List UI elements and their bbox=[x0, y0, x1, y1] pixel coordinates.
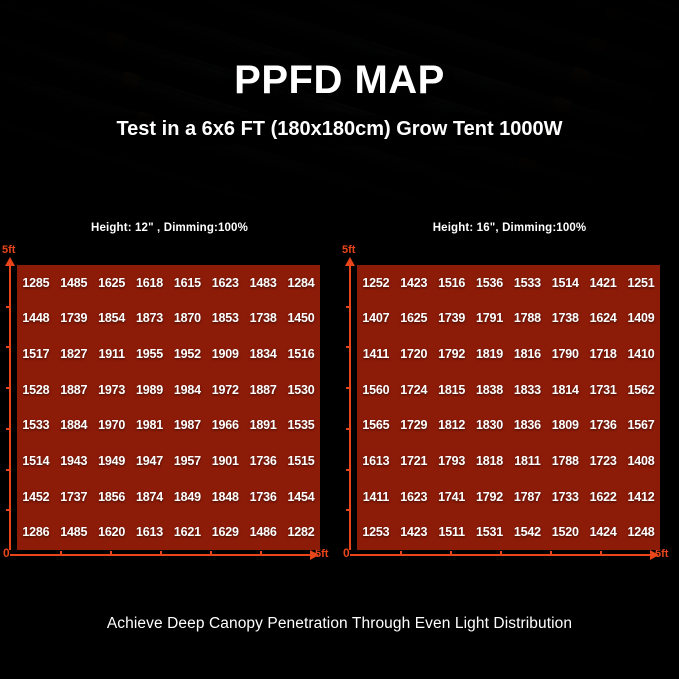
y-axis-arrow-icon bbox=[345, 257, 355, 266]
ppfd-cell: 1623 bbox=[206, 265, 244, 301]
condition-label-12in: Height: 12" , Dimming:100% bbox=[0, 222, 339, 234]
ppfd-cell: 1411 bbox=[357, 479, 395, 515]
ppfd-cell: 1284 bbox=[282, 265, 320, 301]
x-axis-tick bbox=[400, 551, 402, 556]
ppfd-cell: 1515 bbox=[282, 443, 320, 479]
ppfd-cell: 1562 bbox=[622, 372, 660, 408]
ppfd-cell: 1622 bbox=[584, 479, 622, 515]
x-axis-tick bbox=[60, 551, 62, 556]
ppfd-cell: 1738 bbox=[244, 301, 282, 337]
ppfd-cell: 1424 bbox=[584, 514, 622, 550]
ppfd-cell: 1811 bbox=[509, 443, 547, 479]
ppfd-cell: 1736 bbox=[244, 479, 282, 515]
ppfd-cell: 1973 bbox=[93, 372, 131, 408]
ppfd-cell: 1815 bbox=[433, 372, 471, 408]
ppfd-cell: 1830 bbox=[471, 408, 509, 444]
ppfd-cell: 1724 bbox=[395, 372, 433, 408]
heatmap-grid-12in: 1285148516251618161516231483128414481739… bbox=[17, 265, 320, 550]
ppfd-cell: 1528 bbox=[17, 372, 55, 408]
ppfd-cell: 1816 bbox=[509, 336, 547, 372]
ppfd-map-panel-12in: Height: 12" , Dimming:100% 5ft 0 5ft 128… bbox=[0, 222, 339, 582]
ppfd-cell: 1536 bbox=[471, 265, 509, 301]
y-axis-tick bbox=[6, 428, 11, 430]
ppfd-cell: 1625 bbox=[93, 265, 131, 301]
y-axis-tick bbox=[346, 387, 351, 389]
ppfd-cell: 1410 bbox=[622, 336, 660, 372]
ppfd-cell: 1409 bbox=[622, 301, 660, 337]
ppfd-cell: 1955 bbox=[131, 336, 169, 372]
x-axis-right bbox=[350, 554, 650, 556]
ppfd-cell: 1856 bbox=[93, 479, 131, 515]
ppfd-cell: 1251 bbox=[622, 265, 660, 301]
ppfd-cell: 1531 bbox=[471, 514, 509, 550]
ppfd-cell: 1723 bbox=[584, 443, 622, 479]
ppfd-cell: 1834 bbox=[244, 336, 282, 372]
ppfd-cell: 1909 bbox=[206, 336, 244, 372]
y-axis-right bbox=[349, 265, 351, 550]
ppfd-cell: 1809 bbox=[546, 408, 584, 444]
ppfd-cell: 1285 bbox=[17, 265, 55, 301]
x-axis-tick bbox=[550, 551, 552, 556]
ppfd-cell: 1874 bbox=[131, 479, 169, 515]
ppfd-cell: 1423 bbox=[395, 265, 433, 301]
ppfd-cell: 1901 bbox=[206, 443, 244, 479]
ppfd-cell: 1511 bbox=[433, 514, 471, 550]
x-axis-left bbox=[10, 554, 310, 556]
ppfd-cell: 1560 bbox=[357, 372, 395, 408]
ppfd-maps-container: Height: 12" , Dimming:100% 5ft 0 5ft 128… bbox=[0, 222, 679, 582]
x-axis-tick bbox=[160, 551, 162, 556]
ppfd-cell: 1485 bbox=[55, 514, 93, 550]
y-axis-tick bbox=[6, 387, 11, 389]
y-axis-tick bbox=[6, 346, 11, 348]
ppfd-cell: 1952 bbox=[169, 336, 207, 372]
y-axis-tick bbox=[346, 469, 351, 471]
ppfd-cell: 1718 bbox=[584, 336, 622, 372]
ppfd-cell: 1629 bbox=[206, 514, 244, 550]
ppfd-cell: 1788 bbox=[546, 443, 584, 479]
ppfd-cell: 1887 bbox=[244, 372, 282, 408]
page-subtitle: Test in a 6x6 FT (180x180cm) Grow Tent 1… bbox=[0, 119, 679, 139]
ppfd-cell: 1848 bbox=[206, 479, 244, 515]
ppfd-cell: 1854 bbox=[93, 301, 131, 337]
ppfd-cell: 1838 bbox=[471, 372, 509, 408]
y-axis-tick bbox=[346, 306, 351, 308]
ppfd-cell: 1836 bbox=[509, 408, 547, 444]
ppfd-cell: 1282 bbox=[282, 514, 320, 550]
y-axis-tick bbox=[6, 306, 11, 308]
ppfd-cell: 1613 bbox=[357, 443, 395, 479]
ppfd-cell: 1618 bbox=[131, 265, 169, 301]
x-axis-tick bbox=[260, 551, 262, 556]
ppfd-cell: 1911 bbox=[93, 336, 131, 372]
ppfd-cell: 1812 bbox=[433, 408, 471, 444]
ppfd-cell: 1421 bbox=[584, 265, 622, 301]
ppfd-cell: 1739 bbox=[55, 301, 93, 337]
ppfd-cell: 1408 bbox=[622, 443, 660, 479]
ppfd-cell: 1252 bbox=[357, 265, 395, 301]
ppfd-cell: 1887 bbox=[55, 372, 93, 408]
ppfd-cell: 1984 bbox=[169, 372, 207, 408]
ppfd-cell: 1565 bbox=[357, 408, 395, 444]
ppfd-cell: 1615 bbox=[169, 265, 207, 301]
y-axis-label-left: 5ft bbox=[2, 244, 15, 256]
ppfd-cell: 1790 bbox=[546, 336, 584, 372]
ppfd-cell: 1741 bbox=[433, 479, 471, 515]
ppfd-cell: 1947 bbox=[131, 443, 169, 479]
ppfd-cell: 1729 bbox=[395, 408, 433, 444]
ppfd-cell: 1827 bbox=[55, 336, 93, 372]
ppfd-cell: 1542 bbox=[509, 514, 547, 550]
ppfd-cell: 1791 bbox=[471, 301, 509, 337]
ppfd-cell: 1516 bbox=[433, 265, 471, 301]
ppfd-cell: 1454 bbox=[282, 479, 320, 515]
ppfd-cell: 1621 bbox=[169, 514, 207, 550]
ppfd-cell: 1530 bbox=[282, 372, 320, 408]
x-axis-tick bbox=[600, 551, 602, 556]
y-axis-tick bbox=[6, 469, 11, 471]
x-axis-tick bbox=[210, 551, 212, 556]
ppfd-cell: 1450 bbox=[282, 301, 320, 337]
ppfd-cell: 1853 bbox=[206, 301, 244, 337]
ppfd-cell: 1884 bbox=[55, 408, 93, 444]
ppfd-cell: 1814 bbox=[546, 372, 584, 408]
ppfd-cell: 1423 bbox=[395, 514, 433, 550]
ppfd-cell: 1517 bbox=[17, 336, 55, 372]
ppfd-cell: 1486 bbox=[244, 514, 282, 550]
ppfd-cell: 1514 bbox=[17, 443, 55, 479]
x-axis-tick bbox=[500, 551, 502, 556]
ppfd-cell: 1792 bbox=[433, 336, 471, 372]
y-axis-tick bbox=[346, 509, 351, 511]
ppfd-cell: 1736 bbox=[584, 408, 622, 444]
x-axis-tick bbox=[110, 551, 112, 556]
ppfd-cell: 1720 bbox=[395, 336, 433, 372]
ppfd-cell: 1987 bbox=[169, 408, 207, 444]
ppfd-cell: 1966 bbox=[206, 408, 244, 444]
y-axis-left bbox=[9, 265, 11, 550]
ppfd-cell: 1943 bbox=[55, 443, 93, 479]
ppfd-cell: 1818 bbox=[471, 443, 509, 479]
y-axis-arrow-icon bbox=[5, 257, 15, 266]
ppfd-cell: 1485 bbox=[55, 265, 93, 301]
header: PPFD MAP Test in a 6x6 FT (180x180cm) Gr… bbox=[0, 0, 679, 139]
origin-label-left: 0 bbox=[3, 546, 10, 560]
ppfd-cell: 1989 bbox=[131, 372, 169, 408]
ppfd-cell: 1625 bbox=[395, 301, 433, 337]
ppfd-cell: 1788 bbox=[509, 301, 547, 337]
ppfd-cell: 1248 bbox=[622, 514, 660, 550]
ppfd-cell: 1787 bbox=[509, 479, 547, 515]
ppfd-cell: 1736 bbox=[244, 443, 282, 479]
ppfd-cell: 1516 bbox=[282, 336, 320, 372]
ppfd-cell: 1970 bbox=[93, 408, 131, 444]
ppfd-cell: 1739 bbox=[433, 301, 471, 337]
x-axis-tick bbox=[450, 551, 452, 556]
ppfd-cell: 1535 bbox=[282, 408, 320, 444]
y-axis-tick bbox=[6, 509, 11, 511]
heatmap-grid-16in: 1252142315161536153315141421125114071625… bbox=[357, 265, 660, 550]
y-axis-tick bbox=[346, 428, 351, 430]
ppfd-cell: 1733 bbox=[546, 479, 584, 515]
page-title: PPFD MAP bbox=[0, 60, 679, 100]
ppfd-cell: 1520 bbox=[546, 514, 584, 550]
ppfd-cell: 1738 bbox=[546, 301, 584, 337]
ppfd-cell: 1833 bbox=[509, 372, 547, 408]
ppfd-cell: 1613 bbox=[131, 514, 169, 550]
ppfd-cell: 1567 bbox=[622, 408, 660, 444]
ppfd-cell: 1731 bbox=[584, 372, 622, 408]
ppfd-cell: 1620 bbox=[93, 514, 131, 550]
condition-label-16in: Height: 16", Dimming:100% bbox=[340, 222, 679, 234]
ppfd-cell: 1624 bbox=[584, 301, 622, 337]
ppfd-cell: 1891 bbox=[244, 408, 282, 444]
ppfd-cell: 1792 bbox=[471, 479, 509, 515]
ppfd-cell: 1793 bbox=[433, 443, 471, 479]
ppfd-cell: 1253 bbox=[357, 514, 395, 550]
y-axis-label-right: 5ft bbox=[342, 244, 355, 256]
ppfd-map-panel-16in: Height: 16", Dimming:100% 5ft 0 5ft 1252… bbox=[340, 222, 679, 582]
ppfd-cell: 1737 bbox=[55, 479, 93, 515]
ppfd-cell: 1849 bbox=[169, 479, 207, 515]
ppfd-cell: 1957 bbox=[169, 443, 207, 479]
y-axis-tick bbox=[346, 346, 351, 348]
ppfd-cell: 1981 bbox=[131, 408, 169, 444]
origin-label-right: 0 bbox=[343, 546, 350, 560]
ppfd-cell: 1949 bbox=[93, 443, 131, 479]
ppfd-cell: 1452 bbox=[17, 479, 55, 515]
ppfd-cell: 1533 bbox=[509, 265, 547, 301]
ppfd-cell: 1483 bbox=[244, 265, 282, 301]
ppfd-cell: 1448 bbox=[17, 301, 55, 337]
heatmap-plot-12in: 1285148516251618161516231483128414481739… bbox=[17, 265, 320, 550]
heatmap-plot-16in: 1252142315161536153315141421125114071625… bbox=[357, 265, 660, 550]
ppfd-cell: 1286 bbox=[17, 514, 55, 550]
ppfd-cell: 1819 bbox=[471, 336, 509, 372]
ppfd-cell: 1411 bbox=[357, 336, 395, 372]
ppfd-cell: 1533 bbox=[17, 408, 55, 444]
ppfd-cell: 1407 bbox=[357, 301, 395, 337]
ppfd-cell: 1623 bbox=[395, 479, 433, 515]
ppfd-cell: 1412 bbox=[622, 479, 660, 515]
ppfd-cell: 1873 bbox=[131, 301, 169, 337]
ppfd-cell: 1972 bbox=[206, 372, 244, 408]
ppfd-cell: 1870 bbox=[169, 301, 207, 337]
ppfd-cell: 1514 bbox=[546, 265, 584, 301]
ppfd-cell: 1721 bbox=[395, 443, 433, 479]
footer-caption: Achieve Deep Canopy Penetration Through … bbox=[0, 615, 679, 633]
